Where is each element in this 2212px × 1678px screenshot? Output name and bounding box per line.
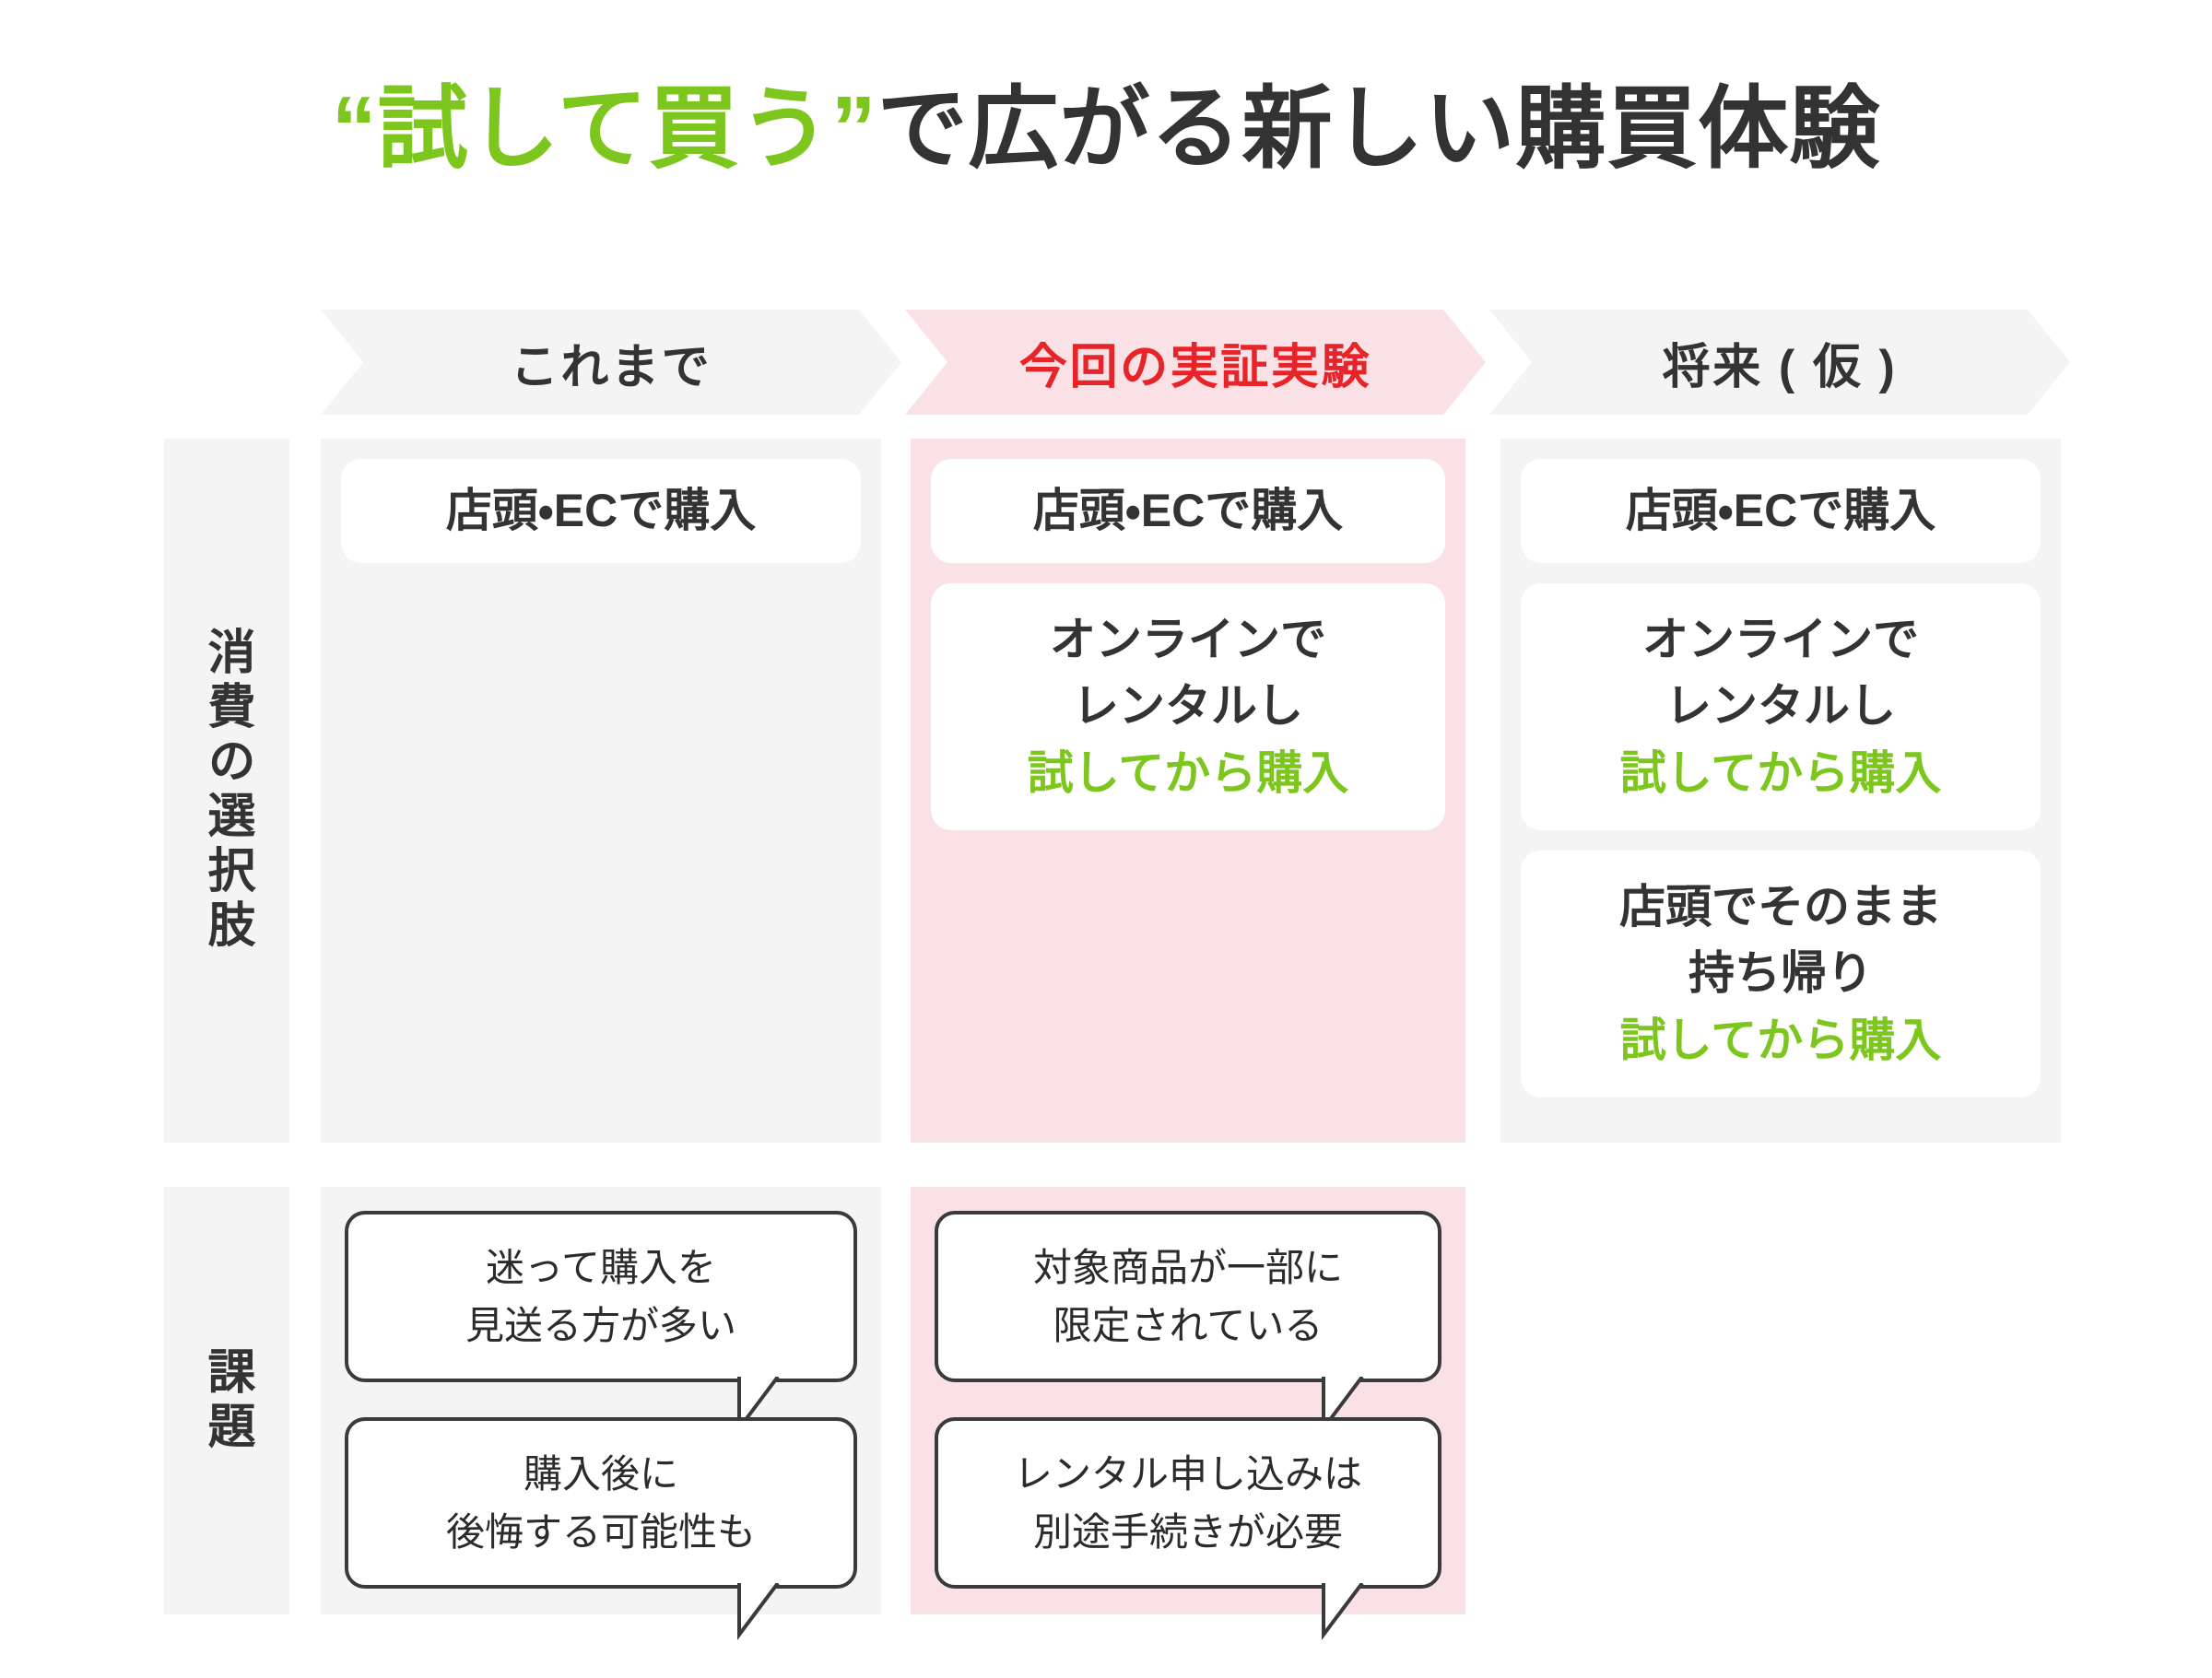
choice-card: 店頭・ECで購入 (341, 459, 861, 563)
issue-bubble: レンタル申し込みは 別途手続きが必要 (935, 1417, 1441, 1589)
choices-card-list-future: 店頭・ECで購入 オンラインで レンタルし 試してから購入 店頭でそのまま 持ち… (1521, 459, 2041, 1097)
column-header-future: 将来 ( 仮 ) (1489, 310, 2070, 415)
choice-card-line: 店頭でそのまま (1619, 874, 1942, 941)
choices-panel-future: 店頭・ECで購入 オンラインで レンタルし 試してから購入 店頭でそのまま 持ち… (1500, 439, 2061, 1143)
title-highlight: “試して買う” (332, 77, 877, 179)
column-header-future-label: 将来 ( 仮 ) (1663, 328, 1898, 397)
choices-panel-current-trial: 店頭・ECで購入 オンラインで レンタルし 試してから購入 (911, 439, 1465, 1143)
page-title: “試して買う”で広がる新しい購買体験 (0, 72, 2212, 185)
choice-card-line: オンラインで (1050, 606, 1326, 674)
choice-card: 店頭でそのまま 持ち帰り 試してから購入 (1521, 851, 2041, 1097)
row-label-consumer-choices: 消費の選択肢 (164, 439, 289, 1143)
choice-card-line-highlight: 試してから購入 (1620, 740, 1942, 807)
column-header-past-label: これまで (511, 328, 712, 397)
choice-card-line-highlight: 試してから購入 (1028, 740, 1349, 807)
issues-panel-current-trial: 対象商品が一部に 限定されている レンタル申し込みは 別途手続きが必要 (911, 1187, 1465, 1614)
choice-card-line: レンタルし (1073, 673, 1303, 740)
choice-card-line: オンラインで (1642, 606, 1919, 674)
issues-bubble-list-current-trial: 対象商品が一部に 限定されている レンタル申し込みは 別途手続きが必要 (935, 1211, 1441, 1589)
choice-card: オンラインで レンタルし 試してから購入 (1521, 583, 2041, 830)
issue-bubble: 迷って購入を 見送る方が多い (345, 1211, 857, 1382)
choice-card-line: 持ち帰り (1688, 940, 1873, 1007)
choice-card-line: 店頭・ECで購入 (1626, 477, 1935, 545)
infographic-root: “試して買う”で広がる新しい購買体験 これまで 今回の実証実験 将来 ( 仮 )… (0, 0, 2212, 1678)
speech-tail-icon (737, 1581, 794, 1638)
choices-panel-past: 店頭・ECで購入 (321, 439, 881, 1143)
choice-card-line: 店頭・ECで購入 (1033, 477, 1343, 545)
choice-card-line-highlight: 試してから購入 (1620, 1007, 1942, 1074)
issue-bubble-line: 後悔する可能性も (446, 1503, 756, 1561)
choice-card: 店頭・ECで購入 (931, 459, 1445, 563)
issue-bubble-line: 迷って購入を (486, 1238, 716, 1297)
issue-bubble-line: 見送る方が多い (465, 1297, 736, 1355)
choice-card: オンラインで レンタルし 試してから購入 (931, 583, 1445, 830)
column-header-past: これまで (321, 310, 901, 415)
choices-card-list-past: 店頭・ECで購入 (341, 459, 861, 563)
choice-card-line: 店頭・ECで購入 (446, 477, 756, 545)
issues-panel-past: 迷って購入を 見送る方が多い 購入後に 後悔する可能性も (321, 1187, 881, 1614)
choice-card-line: レンタルし (1665, 673, 1896, 740)
issues-bubble-list-past: 迷って購入を 見送る方が多い 購入後に 後悔する可能性も (345, 1211, 857, 1589)
choices-card-list-current-trial: 店頭・ECで購入 オンラインで レンタルし 試してから購入 (931, 459, 1445, 830)
issue-bubble: 対象商品が一部に 限定されている (935, 1211, 1441, 1382)
column-header-current-trial-label: 今回の実証実験 (1019, 328, 1371, 397)
issue-bubble-line: 対象商品が一部に (1033, 1238, 1343, 1297)
issue-bubble-line: 限定されている (1053, 1297, 1324, 1355)
issue-bubble: 購入後に 後悔する可能性も (345, 1417, 857, 1589)
row-label-issues-text: 課題 (203, 1346, 251, 1456)
speech-tail-icon (1322, 1581, 1379, 1638)
issues-panel-future (1500, 1187, 2061, 1614)
issue-bubble-line: 別途手続きが必要 (1033, 1503, 1343, 1561)
issue-bubble-line: 購入後に (524, 1445, 678, 1503)
column-header-current-trial: 今回の実証実験 (905, 310, 1486, 415)
title-rest: で広がる新しい購買体験 (877, 77, 1881, 179)
row-label-consumer-choices-text: 消費の選択肢 (203, 627, 251, 955)
issue-bubble-line: レンタル申し込みは (1014, 1445, 1362, 1503)
choice-card: 店頭・ECで購入 (1521, 459, 2041, 563)
row-label-issues: 課題 (164, 1187, 289, 1614)
